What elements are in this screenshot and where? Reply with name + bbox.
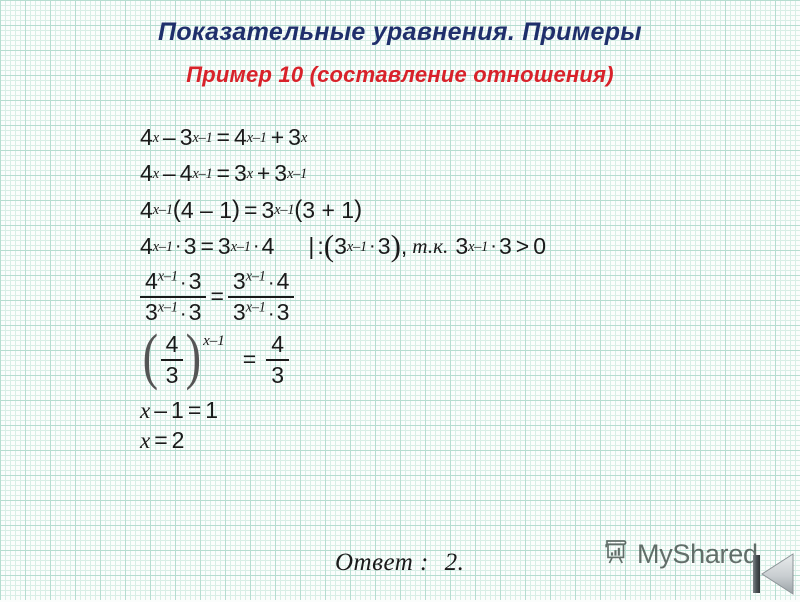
equation-line-2: 4x – 4x–1 = 3x + 3x–1 [140,162,546,185]
eq3-group-b: 3 + 1 [302,199,354,222]
eq6-right-denominator: 3 [266,361,289,387]
answer-label: Ответ : [335,549,429,576]
eq3-close-a: ) [232,198,240,222]
eq1-base-c: 4 [234,126,247,149]
cond-greater-than: > [512,235,533,258]
eq5-rd-base: 3 [233,299,246,325]
eq3-equals: = [240,199,261,222]
eq2-plus: + [253,162,274,185]
math-solution-block: 4x – 3x–1 = 4x–1 + 3x 4x – 4x–1 = 3x + 3… [140,126,546,452]
eq2-base-b: 4 [180,162,193,185]
eq6-base-fraction: 4 3 [161,332,184,386]
cond-because-label: т.к. [407,236,455,257]
eq5-rn-factor: 4 [277,268,290,294]
eq6-right-fraction: 4 3 [266,332,289,386]
eq3-base-b: 3 [261,199,274,222]
eq5-ld-exp: x–1 [158,299,178,315]
eq7-one: 1 [171,399,184,422]
equation-condition-note: | : ( 3x–1 · 3 ) , т.к. 3x–1 · 3 > 0 [308,234,546,259]
eq6-exponent: x–1 [203,334,225,349]
cond-zero: 0 [533,235,546,258]
equation-line-7: x – 1 = 1 [140,399,546,422]
eq5-rn-exp: x–1 [246,268,266,284]
myshared-watermark: MyShared [601,537,758,572]
eq5-ln-dot: · [178,271,189,294]
equation-line-6: ( 4 3 ) x–1 = 4 3 [140,332,546,386]
eq5-rn-base: 3 [233,268,246,294]
eq8-variable: x [140,429,150,452]
eq3-close-b: ) [354,198,362,222]
eq1-minus: – [159,126,180,149]
cond-pipe: | [308,235,317,258]
eq5-ld-dot: · [178,302,189,325]
eq5-ld-base: 3 [145,299,158,325]
eq4-base-a: 4 [140,235,153,258]
eq5-left-denominator: 3x–1·3 [140,298,206,325]
eq3-base-a: 4 [140,199,153,222]
eq5-ln-factor: 3 [189,268,202,294]
eq1-base-a: 4 [140,126,153,149]
eq4-base-b: 3 [218,235,231,258]
eq6-denominator: 3 [161,361,184,387]
eq6-numerator: 4 [161,332,184,358]
eq5-rd-dot: · [266,302,277,325]
equation-line-5: 4x–1·3 3x–1·3 = 3x–1·4 3x–1·3 [140,269,546,324]
back-triangle-icon [751,551,796,597]
eq6-right-numerator: 4 [266,332,289,358]
eq4-equals: = [196,235,217,258]
eq5-right-fraction: 3x–1·4 3x–1·3 [228,269,294,324]
myshared-label: MyShared [637,539,758,570]
page-subtitle: Пример 10 (составление отношения) [0,62,800,88]
equation-line-8: x = 2 [140,429,546,452]
presentation-board-icon [601,537,631,572]
eq2-base-a: 4 [140,162,153,185]
eq5-equals: = [206,285,227,308]
eq5-left-fraction: 4x–1·3 3x–1·3 [140,269,206,324]
eq1-equals: = [213,126,234,149]
eq6-close-paren: ) [186,332,201,383]
eq1-base-b: 3 [180,126,193,149]
eq7-equals: = [184,399,205,422]
eq4-dot-a: · [173,236,184,257]
eq6-equals: = [239,348,260,371]
cond-dot: · [367,236,378,257]
slide-canvas: Показательные уравнения. Примеры Пример … [0,0,800,600]
cond-factor: 3 [378,235,391,258]
equation-line-1: 4x – 3x–1 = 4x–1 + 3x [140,126,546,149]
eq5-rd-exp: x–1 [246,299,266,315]
eq6-power-group: ( 4 3 ) x–1 [140,332,225,386]
eq7-rhs: 1 [205,399,218,422]
eq4-factor-a: 3 [184,235,197,258]
eq4-factor-b: 4 [262,235,275,258]
equation-line-3: 4x–1 ( 4 – 1 ) = 3x–1 ( 3 + 1 ) [140,198,546,222]
eq5-ln-exp: x–1 [158,268,178,284]
cond-base-2: 3 [455,235,468,258]
cond-open-paren: ( [324,234,334,259]
cond-close-paren: ) [391,234,401,259]
cond-dot-2: · [488,236,499,257]
eq4-dot-b: · [251,236,262,257]
eq2-base-d: 3 [274,162,287,185]
eq3-open-a: ( [173,198,181,222]
equation-line-4: 4x–1 · 3 = 3x–1 · 4 | : ( 3x–1 · 3 ) , т… [140,234,546,259]
answer-line: Ответ : 2. [335,549,464,577]
eq1-base-d: 3 [288,126,301,149]
eq5-right-numerator: 3x–1·4 [228,269,294,296]
cond-factor-2: 3 [499,235,512,258]
answer-value: 2. [436,549,465,576]
eq2-minus: – [159,162,180,185]
eq5-rn-dot: · [266,271,277,294]
eq5-ln-base: 4 [145,268,158,294]
eq5-ld-factor: 3 [189,299,202,325]
eq3-open-b: ( [294,198,302,222]
eq3-group-a: 4 – 1 [181,199,232,222]
eq2-equals: = [213,162,234,185]
eq7-variable: x [140,399,150,422]
eq2-base-c: 3 [234,162,247,185]
eq8-equals: = [150,429,171,452]
back-button[interactable] [751,551,796,597]
eq6-open-paren: ( [143,332,158,383]
page-title: Показательные уравнения. Примеры [0,18,800,47]
eq5-right-denominator: 3x–1·3 [228,298,294,325]
eq5-rd-factor: 3 [277,299,290,325]
eq1-plus: + [267,126,288,149]
eq7-minus: – [150,399,171,422]
cond-base: 3 [334,235,347,258]
eq5-left-numerator: 4x–1·3 [140,269,206,296]
eq8-rhs: 2 [172,429,185,452]
